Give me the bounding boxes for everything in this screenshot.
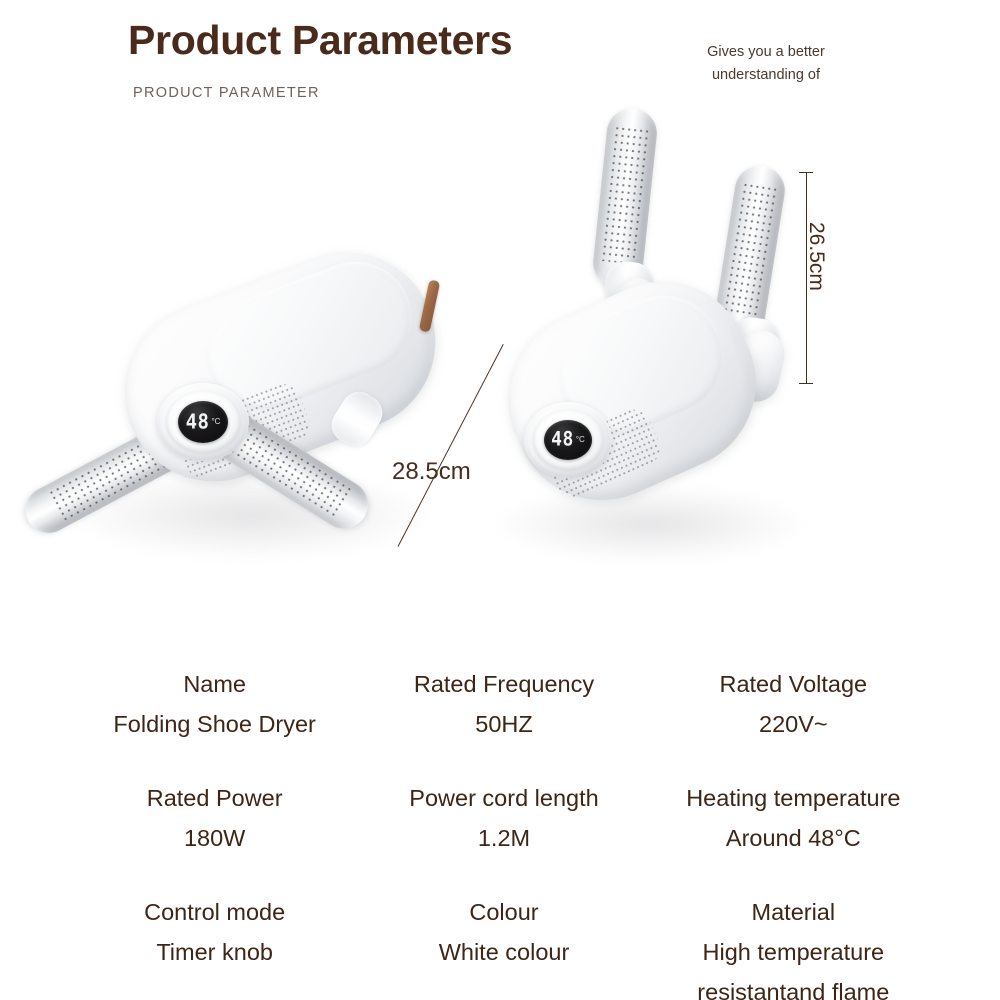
unfolded-display-unit: °C bbox=[576, 436, 585, 444]
unfolded-display-value: 48 bbox=[551, 430, 574, 449]
unfolded-left-arm-vents bbox=[600, 125, 650, 265]
spec-value: Around 48°C bbox=[649, 818, 938, 858]
product-parameters-page: Product Parameters PRODUCT PARAMETER Giv… bbox=[0, 0, 1000, 1000]
spec-cell-power-cord-length: Power cord length 1.2M bbox=[359, 778, 648, 892]
spec-cell-material: Material High temperature resistantand f… bbox=[649, 892, 938, 1000]
folded-temperature-display: 48 °C bbox=[178, 401, 228, 443]
spec-value: High temperature bbox=[649, 932, 938, 972]
unfolded-shadow bbox=[495, 485, 805, 563]
spec-cell-control-mode: Control mode Timer knob bbox=[70, 892, 359, 1000]
spec-key: Power cord length bbox=[359, 778, 648, 818]
spec-cell-rated-power: Rated Power 180W bbox=[70, 778, 359, 892]
spec-cell-rated-voltage: Rated Voltage 220V~ bbox=[649, 664, 938, 778]
spec-value: 50HZ bbox=[359, 704, 648, 744]
spec-value: 180W bbox=[70, 818, 359, 858]
product-illustrations: 48 °C bbox=[0, 0, 1000, 640]
spec-key: Material bbox=[649, 892, 938, 932]
unfolded-right-arm-vents bbox=[722, 181, 778, 318]
spec-value: White colour bbox=[359, 932, 648, 972]
spec-cell-heating-temperature: Heating temperature Around 48°C bbox=[649, 778, 938, 892]
spec-cell-colour: Colour White colour bbox=[359, 892, 648, 1000]
unfolded-knob[interactable]: 48 °C bbox=[533, 410, 603, 470]
unfolded-temperature-display: 48 °C bbox=[544, 420, 592, 460]
folded-knob-ring[interactable]: 48 °C bbox=[157, 383, 249, 461]
spec-value: 220V~ bbox=[649, 704, 938, 744]
spec-value-continued: resistantand flame bbox=[649, 972, 938, 1000]
spec-value: Folding Shoe Dryer bbox=[70, 704, 359, 744]
spec-cell-name: Name Folding Shoe Dryer bbox=[70, 664, 359, 778]
spec-key: Rated Power bbox=[70, 778, 359, 818]
spec-key: Rated Voltage bbox=[649, 664, 938, 704]
height-dimension-cap-top bbox=[799, 172, 813, 173]
spec-row: Name Folding Shoe Dryer Rated Frequency … bbox=[70, 664, 938, 778]
spec-key: Control mode bbox=[70, 892, 359, 932]
spec-value: Timer knob bbox=[70, 932, 359, 972]
spec-row: Control mode Timer knob Colour White col… bbox=[70, 892, 938, 1000]
unfolded-knob-ring[interactable]: 48 °C bbox=[524, 402, 612, 478]
spec-value: 1.2M bbox=[359, 818, 648, 858]
folded-display-value: 48 bbox=[186, 412, 210, 433]
height-dimension-cap-bottom bbox=[799, 383, 813, 384]
folded-knob[interactable]: 48 °C bbox=[166, 391, 240, 453]
spec-row: Rated Power 180W Power cord length 1.2M … bbox=[70, 778, 938, 892]
folded-display-unit: °C bbox=[211, 418, 220, 426]
spec-cell-rated-frequency: Rated Frequency 50HZ bbox=[359, 664, 648, 778]
spec-key: Rated Frequency bbox=[359, 664, 648, 704]
specifications-table: Name Folding Shoe Dryer Rated Frequency … bbox=[70, 664, 938, 1000]
spec-key: Heating temperature bbox=[649, 778, 938, 818]
height-dimension-label: 26.5cm bbox=[804, 222, 828, 291]
spec-key: Name bbox=[70, 664, 359, 704]
length-dimension-label: 28.5cm bbox=[392, 458, 471, 486]
spec-key: Colour bbox=[359, 892, 648, 932]
